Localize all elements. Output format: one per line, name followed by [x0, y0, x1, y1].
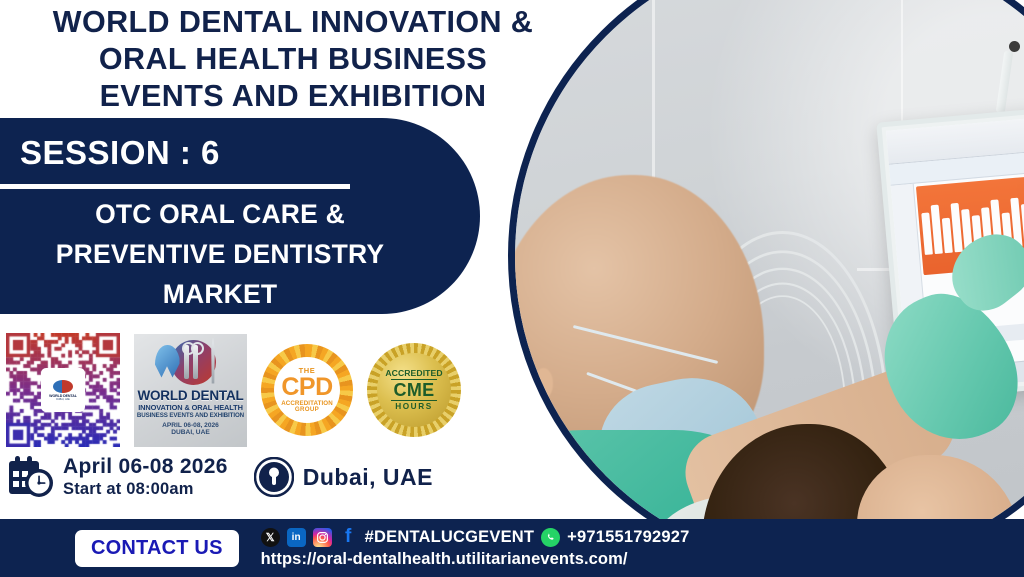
- whatsapp-icon[interactable]: [541, 528, 560, 547]
- event-location: Dubai, UAE: [303, 464, 433, 491]
- qr-code[interactable]: WORLD DENTAL DUBAI, UAE: [6, 333, 120, 447]
- session-topic-line-1: OTC ORAL CARE &: [10, 194, 430, 234]
- cme-accredited-badge: ACCREDITED CME HOURS: [367, 343, 461, 437]
- session-label: SESSION : 6: [20, 134, 220, 172]
- title-line-3: EVENTS AND EXHIBITION: [0, 78, 586, 115]
- dental-probe-icon: [193, 345, 198, 379]
- qr-center-logo: WORLD DENTAL DUBAI, UAE: [43, 370, 83, 410]
- logo-place: DUBAI, UAE: [171, 429, 209, 436]
- page-title: WORLD DENTAL INNOVATION & ORAL HEALTH BU…: [0, 4, 586, 115]
- session-topic-line-2: PREVENTIVE DENTISTRY: [10, 234, 430, 274]
- cme-accredited-label: ACCREDITED: [385, 369, 442, 378]
- event-logo-card: WORLD DENTAL INNOVATION & ORAL HEALTH BU…: [134, 334, 247, 447]
- date-time-text: April 06-08 2026 Start at 08:00am: [63, 455, 228, 499]
- footer-contact-info: 𝕏 in f #DENTALUCGEVENT +97155179292: [261, 528, 690, 569]
- title-line-2: ORAL HEALTH BUSINESS: [0, 41, 586, 78]
- monitor-arm: [996, 50, 1014, 113]
- event-meta-row: April 06-08 2026 Start at 08:00am Dubai,…: [8, 455, 433, 499]
- badges-row: WORLD DENTAL DUBAI, UAE WORLD DENTAL INN…: [6, 333, 461, 447]
- event-poster: WORLD DENTAL INNOVATION & ORAL HEALTH BU…: [0, 0, 1024, 577]
- event-time: Start at 08:00am: [63, 480, 228, 499]
- monitor-arm-knob: [1009, 41, 1020, 52]
- location-pin-icon: [254, 457, 294, 497]
- session-panel: SESSION : 6 OTC ORAL CARE & PREVENTIVE D…: [0, 118, 480, 314]
- event-logo-emblem: [153, 339, 229, 387]
- footer-social-row: 𝕏 in f #DENTALUCGEVENT +97155179292: [261, 528, 690, 547]
- facebook-icon[interactable]: f: [339, 528, 358, 547]
- cpd-badge-inner: THE CPD ACCREDITATION GROUP: [274, 357, 340, 423]
- qr-logo-place: DUBAI, UAE: [56, 398, 70, 401]
- event-url[interactable]: https://oral-dentalhealth.utilitarianeve…: [261, 550, 690, 569]
- cpd-accreditation-badge: THE CPD ACCREDITATION GROUP: [261, 344, 353, 436]
- footer-bar: CONTACT US 𝕏 in f #DENTALUCGEVENT: [0, 519, 1024, 577]
- calendar-clock-icon: [8, 456, 54, 498]
- instagram-icon[interactable]: [313, 528, 332, 547]
- dental-mirror-icon: [184, 345, 189, 379]
- clinic-background: [515, 0, 1024, 567]
- cme-badge-inner: ACCREDITED CME HOURS: [377, 353, 451, 427]
- event-date: April 06-08 2026: [63, 455, 228, 479]
- x-icon[interactable]: 𝕏: [261, 528, 280, 547]
- dentist-ear: [534, 368, 553, 399]
- cme-main-label: CME: [391, 379, 438, 401]
- session-divider: [0, 184, 350, 189]
- session-topic-line-3: MARKET: [10, 274, 430, 314]
- title-line-1: WORLD DENTAL INNOVATION &: [0, 4, 586, 41]
- date-time-item: April 06-08 2026 Start at 08:00am: [8, 455, 228, 499]
- logo-subtitle-2: BUSINESS EVENTS AND EXHIBITION: [137, 412, 244, 419]
- qr-logo-emblem: [53, 380, 73, 393]
- event-hashtag: #DENTALUCGEVENT: [365, 528, 535, 547]
- contact-us-button[interactable]: CONTACT US: [75, 530, 239, 567]
- logo-subtitle-1: INNOVATION & ORAL HEALTH: [138, 403, 243, 412]
- cpd-main-label: CPD: [281, 375, 332, 400]
- location-item: Dubai, UAE: [254, 457, 433, 497]
- session-topic: OTC ORAL CARE & PREVENTIVE DENTISTRY MAR…: [10, 194, 430, 314]
- logo-title: WORLD DENTAL: [137, 388, 243, 403]
- cpd-sub-label-2: GROUP: [295, 407, 319, 413]
- linkedin-icon[interactable]: in: [287, 528, 306, 547]
- wall-seam: [901, 0, 903, 132]
- logo-date: APRIL 06-08, 2026: [162, 422, 219, 429]
- cme-hours-label: HOURS: [395, 403, 433, 411]
- whatsapp-phone: +971551792927: [567, 528, 689, 547]
